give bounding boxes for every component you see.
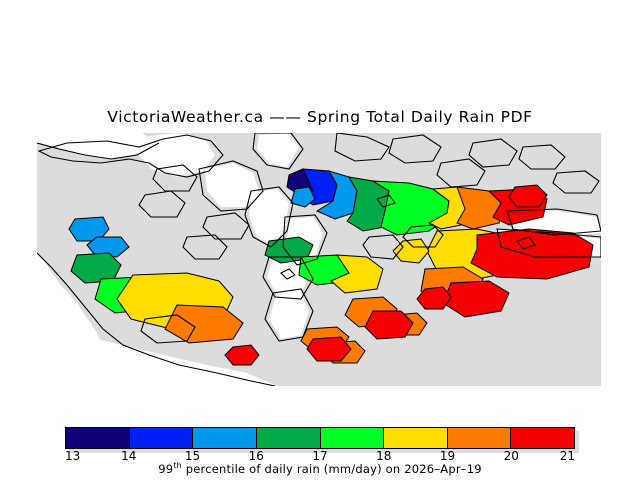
colorbar-segment-1[interactable] (66, 428, 130, 448)
colorbar-segment-8[interactable] (511, 428, 574, 448)
region-far-east-island (471, 229, 593, 279)
region-small-red-islet (225, 345, 259, 365)
caption-post: percentile of daily rain (mm/day) on 202… (182, 462, 482, 476)
colorbar (65, 427, 577, 451)
colorbar-strip[interactable] (65, 427, 575, 449)
region-southeast-red-a (443, 281, 509, 317)
region-yellow-islet (393, 239, 429, 263)
colorbar-segment-5[interactable] (321, 428, 385, 448)
colorbar-segment-3[interactable] (193, 428, 257, 448)
colorbar-segment-2[interactable] (130, 428, 194, 448)
region-south-peninsula-south (165, 305, 243, 343)
colorbar-segment-7[interactable] (448, 428, 512, 448)
colorbar-segment-4[interactable] (257, 428, 321, 448)
region-south-red-islet (307, 337, 351, 361)
region-southeast-islets (365, 311, 413, 339)
colorbar-segment-6[interactable] (384, 428, 448, 448)
chart-canvas: VictoriaWeather.ca —— Spring Total Daily… (0, 0, 640, 480)
map-graphic (37, 133, 601, 386)
region-ne-red-islet (509, 185, 547, 207)
map-panel (37, 133, 601, 386)
caption-pre: 99 (158, 462, 173, 476)
chart-title: VictoriaWeather.ca —— Spring Total Daily… (0, 108, 640, 126)
colorbar-caption: 99th percentile of daily rain (mm/day) o… (0, 461, 640, 476)
caption-superscript: th (173, 461, 182, 470)
